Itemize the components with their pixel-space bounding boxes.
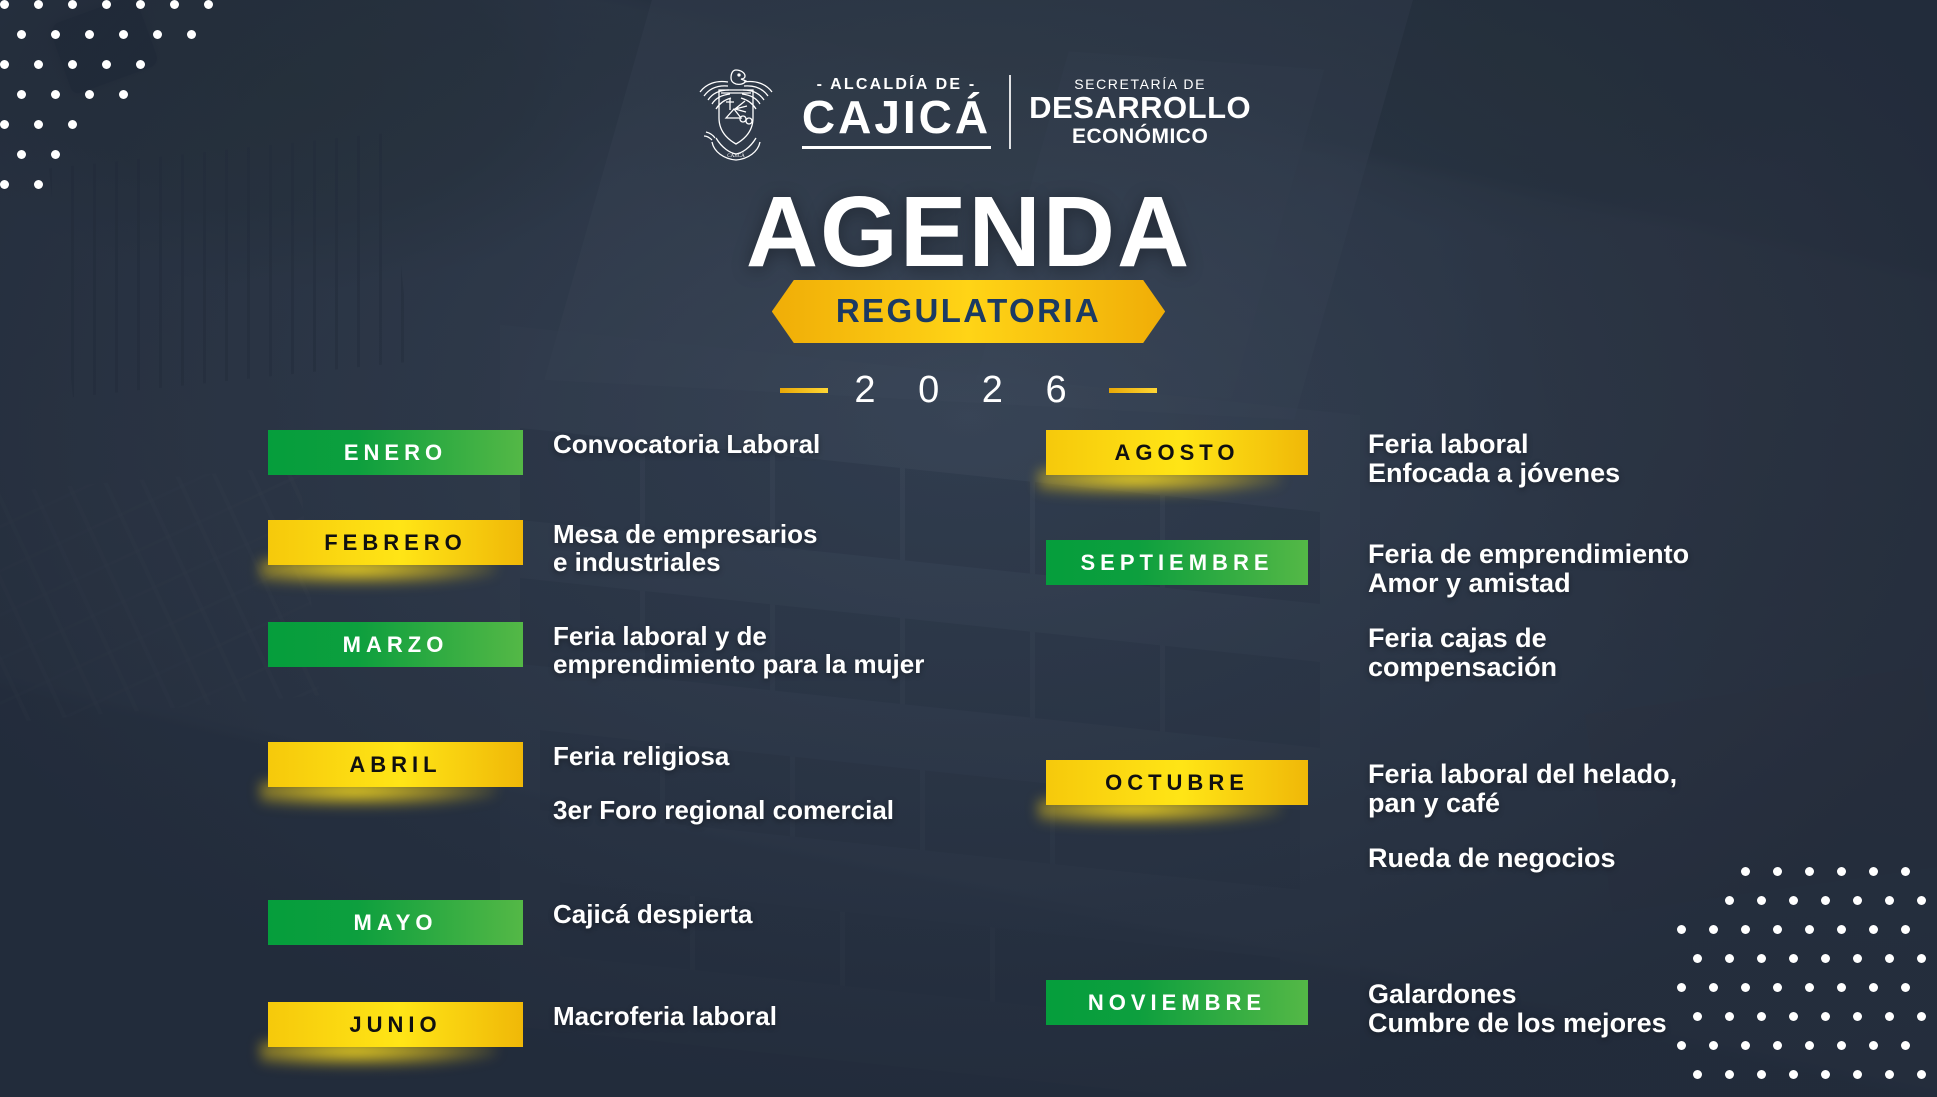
month-badge-wrapper: OCTUBRE — [1046, 760, 1308, 805]
brand-lockup: CAJICÁ - ALCALDÍA DE - CAJICÁ SECRETARÍA… — [686, 62, 1251, 162]
month-badge-mayo[interactable]: MAYO — [268, 900, 523, 945]
month-badge-febrero[interactable]: FEBRERO — [268, 520, 523, 565]
event-list: Feria laboral Enfocada a jóvenes — [1368, 430, 1620, 488]
event-item: Convocatoria Laboral — [553, 430, 820, 458]
event-item: Galardones Cumbre de los mejores — [1368, 980, 1667, 1038]
brand-text: - ALCALDÍA DE - CAJICÁ SECRETARÍA DE DES… — [802, 75, 1251, 149]
event-item: Feria laboral Enfocada a jóvenes — [1368, 430, 1620, 488]
event-list: Feria laboral del helado, pan y caféRued… — [1368, 760, 1677, 873]
alcaldia-underline — [802, 146, 991, 149]
event-list: Galardones Cumbre de los mejores — [1368, 980, 1667, 1038]
month-badge-enero[interactable]: ENERO — [268, 430, 523, 475]
agenda-poster: CAJICÁ - ALCALDÍA DE - CAJICÁ SECRETARÍA… — [0, 0, 1937, 1097]
ribbon-label: REGULATORIA — [772, 280, 1165, 343]
month-badge-wrapper: NOVIEMBRE — [1046, 980, 1308, 1025]
agenda-row: ENEROConvocatoria Laboral — [268, 430, 820, 475]
year-row: 2 0 2 6 — [780, 369, 1156, 412]
agenda-row: MARZOFeria laboral y de emprendimiento p… — [268, 622, 924, 678]
month-badge-wrapper: ABRIL — [268, 742, 523, 787]
alcaldia-block: - ALCALDÍA DE - CAJICÁ — [802, 76, 991, 149]
secretaria-line-1: DESARROLLO — [1029, 92, 1251, 125]
page-title: AGENDA — [746, 185, 1191, 280]
event-item: 3er Foro regional comercial — [553, 796, 894, 824]
event-list: Feria religiosa3er Foro regional comerci… — [553, 742, 894, 824]
month-badge-wrapper: ENERO — [268, 430, 523, 475]
agenda-row: OCTUBREFeria laboral del helado, pan y c… — [1046, 760, 1677, 873]
event-item: Feria laboral y de emprendimiento para l… — [553, 622, 924, 678]
event-item: Macroferia laboral — [553, 1002, 777, 1030]
agenda-row: ABRILFeria religiosa3er Foro regional co… — [268, 742, 894, 824]
brand-divider — [1009, 75, 1011, 149]
event-item: Feria laboral del helado, pan y café — [1368, 760, 1677, 818]
month-badge-abril[interactable]: ABRIL — [268, 742, 523, 787]
event-list: Macroferia laboral — [553, 1002, 777, 1030]
ribbon-banner: REGULATORIA — [772, 280, 1165, 343]
event-item: Cajicá despierta — [553, 900, 752, 928]
event-item: Feria de emprendimiento Amor y amistad — [1368, 540, 1689, 598]
event-item: Rueda de negocios — [1368, 844, 1677, 873]
agenda-row: MAYOCajicá despierta — [268, 900, 752, 945]
month-badge-wrapper: FEBRERO — [268, 520, 523, 565]
event-list: Feria laboral y de emprendimiento para l… — [553, 622, 924, 678]
svg-text:CAJICÁ: CAJICÁ — [727, 153, 745, 159]
agenda-row: AGOSTOFeria laboral Enfocada a jóvenes — [1046, 430, 1620, 488]
event-list: Convocatoria Laboral — [553, 430, 820, 458]
month-badge-noviembre[interactable]: NOVIEMBRE — [1046, 980, 1308, 1025]
secretaria-block: SECRETARÍA DE DESARROLLO ECONÓMICO — [1029, 76, 1251, 148]
month-badge-wrapper: MAYO — [268, 900, 523, 945]
agenda-row: FEBREROMesa de empresarios e industriale… — [268, 520, 817, 576]
month-badge-agosto[interactable]: AGOSTO — [1046, 430, 1308, 475]
event-item: Feria cajas de compensación — [1368, 624, 1689, 682]
month-badge-marzo[interactable]: MARZO — [268, 622, 523, 667]
month-badge-wrapper: SEPTIEMBRE — [1046, 540, 1308, 585]
month-badge-septiembre[interactable]: SEPTIEMBRE — [1046, 540, 1308, 585]
event-item: Feria religiosa — [553, 742, 894, 770]
brand-header: CAJICÁ - ALCALDÍA DE - CAJICÁ SECRETARÍA… — [0, 62, 1937, 162]
agenda-grid: ENEROConvocatoria LaboralFEBREROMesa de … — [0, 430, 1937, 1070]
agenda-row: JUNIOMacroferia laboral — [268, 1002, 777, 1047]
agenda-row: NOVIEMBREGalardones Cumbre de los mejore… — [1046, 980, 1667, 1038]
agenda-row: SEPTIEMBREFeria de emprendimiento Amor y… — [1046, 540, 1689, 683]
event-item: Mesa de empresarios e industriales — [553, 520, 817, 576]
year-dash-left — [780, 388, 828, 393]
event-list: Cajicá despierta — [553, 900, 752, 928]
year-value: 2 0 2 6 — [854, 369, 1082, 412]
month-badge-wrapper: JUNIO — [268, 1002, 523, 1047]
event-list: Mesa de empresarios e industriales — [553, 520, 817, 576]
year-dash-right — [1109, 388, 1157, 393]
event-list: Feria de emprendimiento Amor y amistadFe… — [1368, 540, 1689, 683]
month-badge-wrapper: MARZO — [268, 622, 523, 667]
secretaria-line-2: ECONÓMICO — [1072, 125, 1208, 148]
month-badge-junio[interactable]: JUNIO — [268, 1002, 523, 1047]
alcaldia-name: CAJICÁ — [802, 94, 991, 143]
cajica-coat-of-arms-icon: CAJICÁ — [686, 62, 786, 162]
title-block: AGENDA REGULATORIA 2 0 2 6 — [0, 185, 1937, 412]
month-badge-octubre[interactable]: OCTUBRE — [1046, 760, 1308, 805]
month-badge-wrapper: AGOSTO — [1046, 430, 1308, 475]
